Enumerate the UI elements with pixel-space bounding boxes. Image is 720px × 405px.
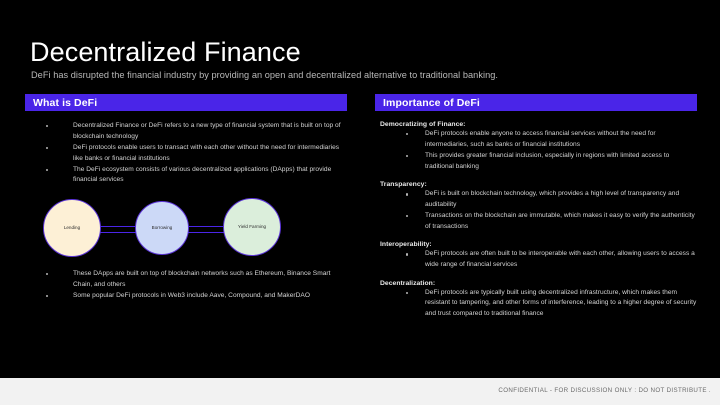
group-heading: Transparency:	[375, 181, 697, 188]
list-item: DeFi protocols are often built to be int…	[375, 249, 697, 270]
group-transparency: Transparency: DeFi is built on blockchai…	[375, 181, 697, 232]
group-interoperability: Interoperability: DeFi protocols are oft…	[375, 241, 697, 270]
diagram-edge-borrowing-yield	[185, 226, 227, 233]
list-item: DeFi protocols enable anyone to access f…	[375, 129, 697, 150]
left-bullets-bottom: These DApps are built on top of blockcha…	[25, 269, 347, 302]
diagram-node-borrowing: Borrowing	[135, 201, 189, 255]
confidentiality-notice: CONFIDENTIAL - FOR DISCUSSION ONLY : DO …	[498, 387, 711, 394]
group-heading: Interoperability:	[375, 241, 697, 248]
list-item: DeFi protocols are typically built using…	[375, 288, 697, 320]
group-bullets: DeFi is built on blockchain technology, …	[375, 189, 697, 232]
group-bullets: DeFi protocols enable anyone to access f…	[375, 129, 697, 172]
diagram-node-lending: Lending	[43, 199, 101, 257]
left-section-header: What is DeFi	[25, 94, 347, 111]
diagram-edge-lending-borrowing	[97, 226, 139, 233]
list-item: The DeFi ecosystem consists of various d…	[25, 165, 347, 186]
footer-bar: CONFIDENTIAL - FOR DISCUSSION ONLY : DO …	[0, 378, 720, 405]
left-column-body: Decentralized Finance or DeFi refers to …	[25, 111, 347, 302]
group-heading: Democratizing of Finance:	[375, 121, 697, 128]
right-column-body: Democratizing of Finance: DeFi protocols…	[375, 111, 697, 320]
list-item: DeFi protocols enable users to transact …	[25, 143, 347, 164]
right-section-header-label: Importance of DeFi	[383, 97, 480, 109]
group-heading: Decentralization:	[375, 280, 697, 287]
right-column: Importance of DeFi Democratizing of Fina…	[375, 94, 697, 329]
list-item: Some popular DeFi protocols in Web3 incl…	[25, 291, 347, 302]
diagram-node-yield-farming: Yield Farming	[223, 198, 281, 256]
defi-flow-diagram: Lending Borrowing Yield Farming	[25, 195, 347, 263]
list-item: Transactions on the blockchain are immut…	[375, 211, 697, 232]
group-bullets: DeFi protocols are often built to be int…	[375, 249, 697, 270]
list-item: DeFi is built on blockchain technology, …	[375, 189, 697, 210]
slide-canvas: Decentralized Finance DeFi has disrupted…	[0, 0, 720, 378]
list-item: Decentralized Finance or DeFi refers to …	[25, 121, 347, 142]
group-democratizing: Democratizing of Finance: DeFi protocols…	[375, 121, 697, 172]
group-decentralization: Decentralization: DeFi protocols are typ…	[375, 280, 697, 320]
list-item: These DApps are built on top of blockcha…	[25, 269, 347, 290]
page-subtitle: DeFi has disrupted the financial industr…	[31, 70, 498, 80]
left-column: What is DeFi Decentralized Finance or De…	[25, 94, 347, 302]
left-section-header-label: What is DeFi	[33, 97, 97, 109]
page-title: Decentralized Finance	[30, 38, 301, 68]
left-bullets-top: Decentralized Finance or DeFi refers to …	[25, 121, 347, 186]
group-bullets: DeFi protocols are typically built using…	[375, 288, 697, 320]
right-section-header: Importance of DeFi	[375, 94, 697, 111]
list-item: This provides greater financial inclusio…	[375, 151, 697, 172]
